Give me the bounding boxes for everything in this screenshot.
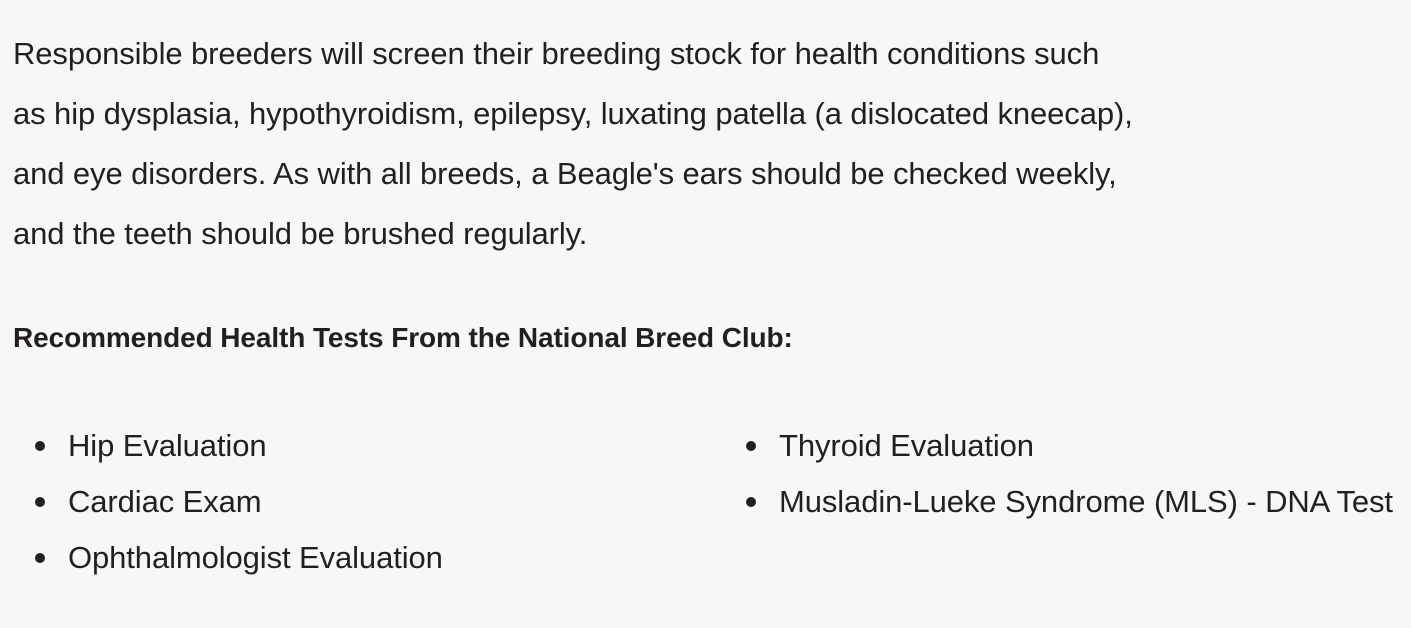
bullet-icon bbox=[35, 553, 45, 563]
list-item: Thyroid Evaluation bbox=[735, 418, 1399, 474]
health-tests-columns: Hip Evaluation Cardiac Exam Ophthalmolog… bbox=[13, 358, 1411, 586]
list-item-label: Thyroid Evaluation bbox=[779, 418, 1399, 474]
list-item-label: Cardiac Exam bbox=[68, 474, 725, 530]
health-tests-right-column: Thyroid Evaluation Musladin-Lueke Syndro… bbox=[725, 418, 1411, 530]
list-item-label: Musladin-Lueke Syndrome (MLS) - DNA Test bbox=[779, 474, 1399, 530]
list-item: Musladin-Lueke Syndrome (MLS) - DNA Test bbox=[735, 474, 1399, 530]
list-item-label: Ophthalmologist Evaluation bbox=[68, 530, 725, 586]
list-item: Cardiac Exam bbox=[24, 474, 725, 530]
list-item: Hip Evaluation bbox=[24, 418, 725, 474]
bullet-icon bbox=[35, 497, 45, 507]
section-heading: Recommended Health Tests From the Nation… bbox=[13, 264, 1411, 358]
health-tests-list-right: Thyroid Evaluation Musladin-Lueke Syndro… bbox=[735, 418, 1411, 530]
bullet-icon bbox=[35, 441, 45, 451]
health-tests-left-column: Hip Evaluation Cardiac Exam Ophthalmolog… bbox=[13, 418, 725, 586]
bullet-icon bbox=[746, 497, 756, 507]
list-item-label: Hip Evaluation bbox=[68, 418, 725, 474]
intro-paragraph-line-4: and the teeth should be brushed regularl… bbox=[13, 216, 587, 251]
article-page: Responsible breeders will screen their b… bbox=[0, 0, 1411, 628]
intro-paragraph-line-2: as hip dysplasia, hypothyroidism, epilep… bbox=[13, 96, 1133, 131]
intro-paragraph-line-3: and eye disorders. As with all breeds, a… bbox=[13, 156, 1117, 191]
list-item: Ophthalmologist Evaluation bbox=[24, 530, 725, 586]
intro-paragraph-line-1: Responsible breeders will screen their b… bbox=[13, 36, 1099, 71]
health-tests-list-left: Hip Evaluation Cardiac Exam Ophthalmolog… bbox=[24, 418, 725, 586]
bullet-icon bbox=[746, 441, 756, 451]
intro-paragraph: Responsible breeders will screen their b… bbox=[13, 0, 1411, 264]
